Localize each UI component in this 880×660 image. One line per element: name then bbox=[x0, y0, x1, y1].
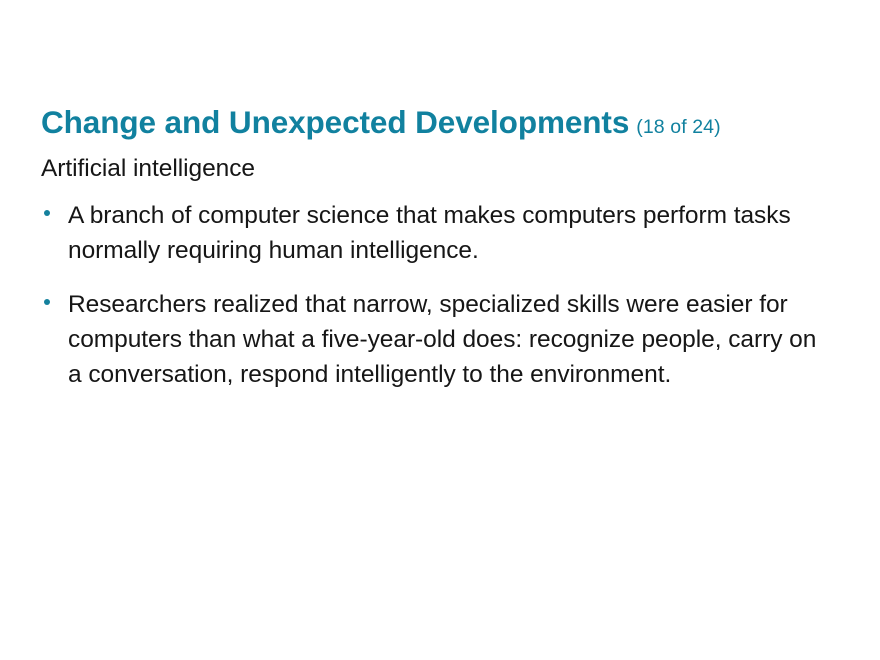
bullet-dot-icon bbox=[44, 210, 50, 216]
slide-title-text: Change and Unexpected Developments bbox=[41, 104, 629, 140]
list-item-text: A branch of computer science that makes … bbox=[68, 198, 831, 268]
subtitle-heading: Artificial intelligence bbox=[41, 152, 831, 186]
page-title: Change and Unexpected Developments(18 of… bbox=[41, 105, 856, 141]
slide-counter: (18 of 24) bbox=[636, 116, 720, 138]
slide-canvas: Change and Unexpected Developments(18 of… bbox=[0, 0, 880, 660]
bullet-list: A branch of computer science that makes … bbox=[41, 198, 831, 392]
list-item: A branch of computer science that makes … bbox=[41, 198, 831, 268]
list-item: Researchers realized that narrow, specia… bbox=[41, 287, 831, 392]
slide-body: Artificial intelligence A branch of comp… bbox=[41, 152, 831, 392]
list-item-text: Researchers realized that narrow, specia… bbox=[68, 287, 831, 392]
bullet-dot-icon bbox=[44, 299, 50, 305]
